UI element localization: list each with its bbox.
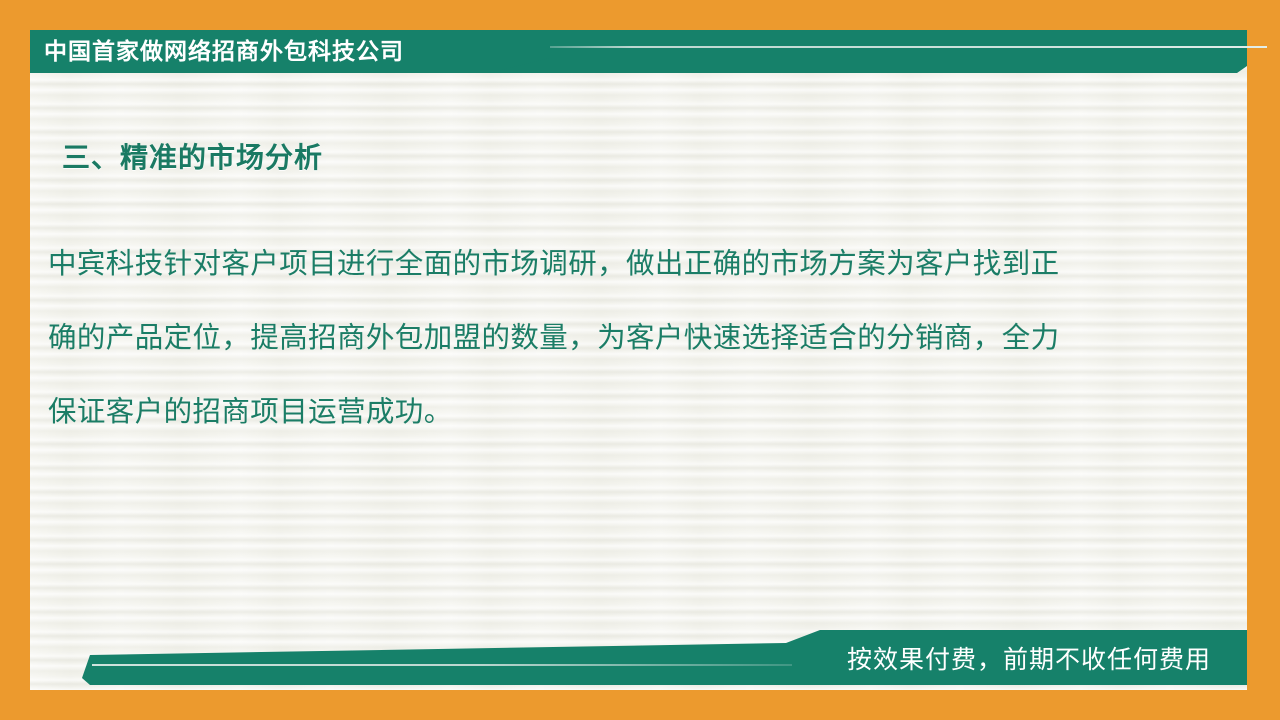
header-right-bar (485, 30, 1247, 73)
header-title: 中国首家做网络招商外包科技公司 (44, 33, 514, 69)
body-paragraph-line: 确的产品定位，提高招商外包加盟的数量，为客户快速选择适合的分销商，全力 (48, 302, 1188, 376)
body-paragraph-line: 中宾科技针对客户项目进行全面的市场调研，做出正确的市场方案为客户找到正 (48, 228, 1188, 302)
header-band: 中国首家做网络招商外包科技公司 (30, 30, 1247, 82)
body-paragraph: 中宾科技针对客户项目进行全面的市场调研，做出正确的市场方案为客户找到正 确的产品… (48, 228, 1188, 450)
slide-root: 中国首家做网络招商外包科技公司 三、精准的市场分析 中宾科技针对客户项目进行全面… (0, 0, 1280, 720)
footer-band: 按效果付费，前期不收任何费用 (30, 630, 1247, 690)
footer-tagline: 按效果付费，前期不收任何费用 (847, 640, 1211, 680)
footer-hairline-divider (92, 664, 792, 666)
body-paragraph-line: 保证客户的招商项目运营成功。 (48, 376, 1188, 450)
section-heading: 三、精准的市场分析 (62, 136, 323, 176)
header-title-block: 中国首家做网络招商外包科技公司 (30, 30, 550, 73)
header-hairline-divider (545, 46, 1267, 48)
